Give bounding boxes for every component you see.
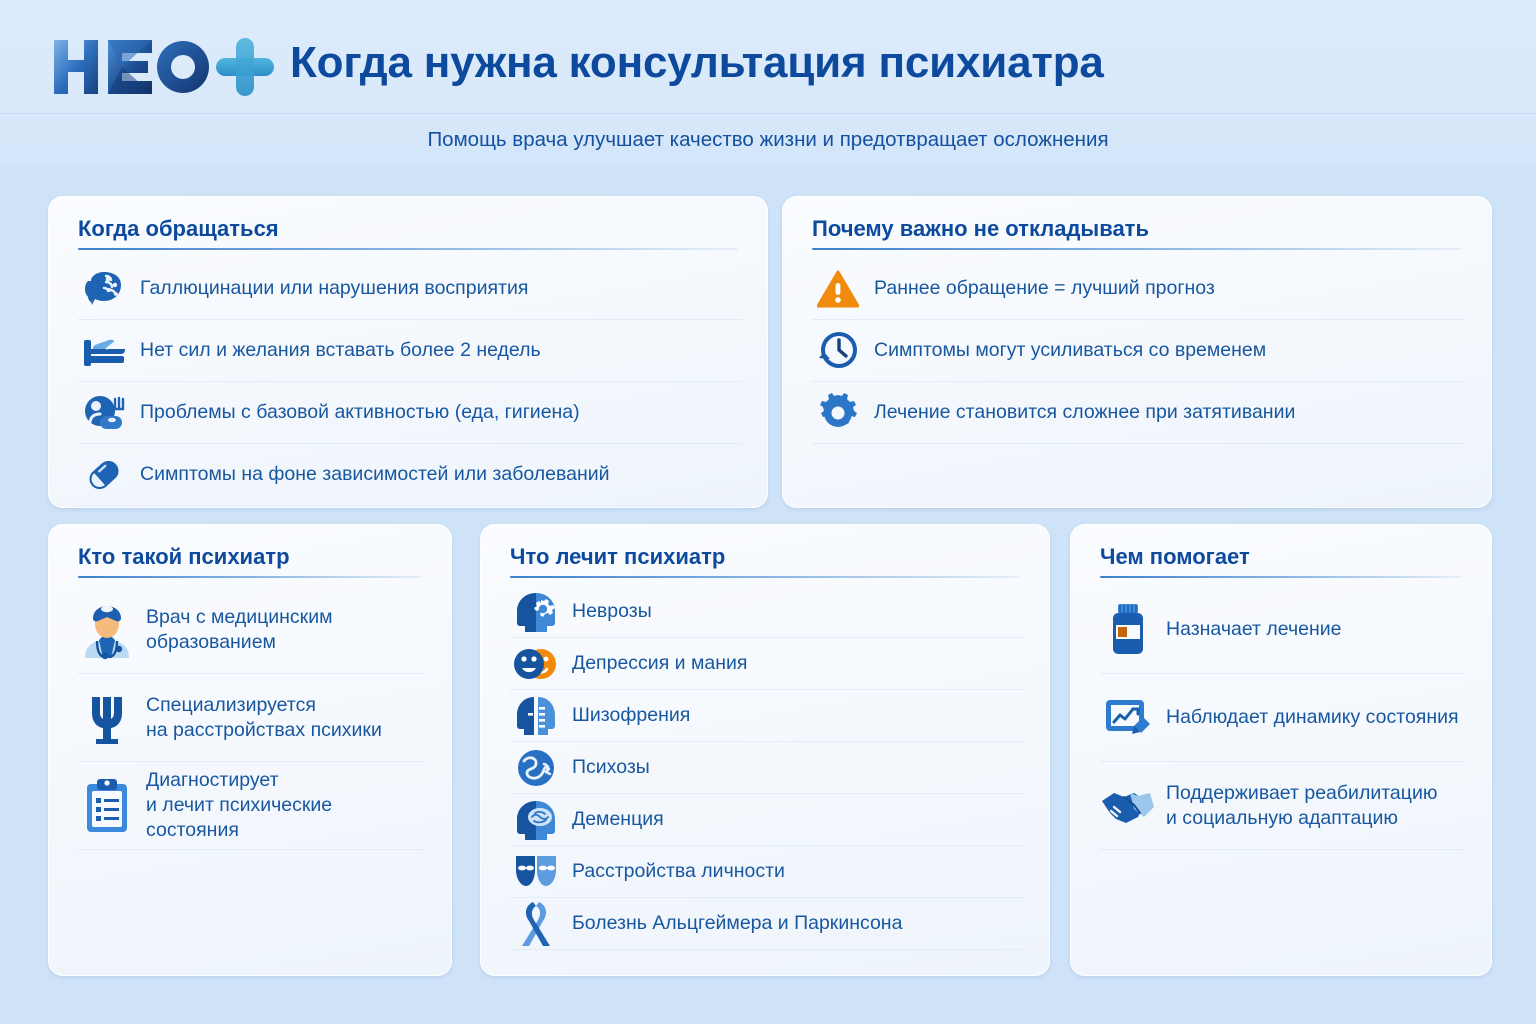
split-head-icon	[510, 692, 562, 740]
list-item-label: Шизофрения	[572, 703, 690, 728]
card-title-rule	[812, 248, 1462, 250]
list-item[interactable]: Раннее обращение = лучший прогноз	[812, 258, 1466, 320]
list-item[interactable]: Симптомы могут усиливаться со временем	[812, 320, 1466, 382]
card-why-not-delay: Почему важно не откладывать Раннее обращ…	[782, 196, 1492, 508]
list-item-label: Наблюдает динамику состояния	[1166, 705, 1459, 730]
card-title-rule	[510, 576, 1020, 578]
list-treats: Неврозы Депрессия и мания	[510, 586, 1024, 950]
list-item-label: Расстройства личности	[572, 859, 785, 884]
list-item[interactable]: Назначает лечение	[1100, 586, 1466, 674]
warning-triangle-icon	[812, 266, 864, 312]
list-item-label: Назначает лечение	[1166, 617, 1341, 642]
list-item[interactable]: Нет сил и желания вставать более 2 недел…	[78, 320, 742, 382]
card-title: Почему важно не откладывать	[812, 216, 1149, 242]
theater-masks-icon	[510, 848, 562, 896]
two-faces-icon	[510, 640, 562, 688]
list-item[interactable]: Проблемы с базовой активностью (еда, гиг…	[78, 382, 742, 444]
list-item[interactable]: Наблюдает динамику состояния	[1100, 674, 1466, 762]
ribbon-icon	[510, 900, 562, 948]
doctor-icon	[78, 594, 136, 666]
eating-icon	[78, 390, 130, 436]
brain-icon	[78, 266, 130, 312]
list-item-label: Нет сил и желания вставать более 2 недел…	[140, 338, 541, 363]
pill-bottle-icon	[1100, 594, 1156, 666]
list-item-label: Лечение становится сложнее при затятиван…	[874, 400, 1295, 425]
list-item-label: Поддерживает реабилитацию и социальную а…	[1166, 781, 1437, 831]
card-title: Чем помогает	[1100, 544, 1250, 570]
list-item[interactable]: Болезнь Альцгеймера и Паркинсона	[510, 898, 1024, 950]
card-title-rule	[78, 576, 422, 578]
list-item[interactable]: Врач с медицинским образованием	[78, 586, 426, 674]
list-who: Врач с медицинским образованием Специали…	[78, 586, 426, 850]
list-item[interactable]: Деменция	[510, 794, 1024, 846]
list-item[interactable]: Поддерживает реабилитацию и социальную а…	[1100, 762, 1466, 850]
list-item-label: Галлюцинации или нарушения восприятия	[140, 276, 528, 301]
card-who-is-psychiatrist: Кто такой психиатр Врач с медицинским об…	[48, 524, 452, 976]
list-item[interactable]: Диагностирует и лечит психические состоя…	[78, 762, 426, 850]
gear-icon	[812, 390, 864, 436]
list-item[interactable]: Лечение становится сложнее при затятиван…	[812, 382, 1466, 444]
list-item-label: Неврозы	[572, 599, 652, 624]
list-when: Галлюцинации или нарушения восприятия Не…	[78, 258, 742, 506]
list-item-label: Диагностирует и лечит психические состоя…	[146, 768, 426, 843]
card-title: Кто такой психиатр	[78, 544, 290, 570]
card-title-rule	[1100, 576, 1462, 578]
handshake-icon	[1100, 770, 1156, 842]
clipboard-icon	[78, 770, 136, 842]
list-item[interactable]: Депрессия и мания	[510, 638, 1024, 690]
psi-icon	[78, 682, 136, 754]
bed-icon	[78, 328, 130, 374]
chart-pen-icon	[1100, 682, 1156, 754]
list-item[interactable]: Галлюцинации или нарушения восприятия	[78, 258, 742, 320]
card-title: Когда обращаться	[78, 216, 279, 242]
list-item[interactable]: Расстройства личности	[510, 846, 1024, 898]
list-item-label: Деменция	[572, 807, 664, 832]
list-why: Раннее обращение = лучший прогноз Симпто…	[812, 258, 1466, 444]
list-item-label: Врач с медицинским образованием	[146, 605, 333, 655]
page-subtitle: Помощь врача улучшает качество жизни и п…	[0, 128, 1536, 152]
header: Когда нужна консультация психиатра Помощ…	[0, 0, 1536, 166]
card-what-psychiatrist-treats: Что лечит психиатр Неврозы	[480, 524, 1050, 976]
tangled-head-icon	[510, 744, 562, 792]
capsule-icon	[78, 452, 130, 498]
card-how-helps: Чем помогает Назначает лечение	[1070, 524, 1492, 976]
list-item[interactable]: Шизофрения	[510, 690, 1024, 742]
list-item-label: Болезнь Альцгеймера и Паркинсона	[572, 911, 902, 936]
list-item[interactable]: Неврозы	[510, 586, 1024, 638]
list-item-label: Проблемы с базовой активностью (еда, гиг…	[140, 400, 580, 425]
list-item-label: Симптомы могут усиливаться со временем	[874, 338, 1266, 363]
list-item-label: Симптомы на фоне зависимостей или заболе…	[140, 462, 610, 487]
list-helps: Назначает лечение Наблюдает динамику сос…	[1100, 586, 1466, 850]
card-title-rule	[78, 248, 738, 250]
page-title: Когда нужна консультация психиатра	[290, 38, 1104, 88]
list-item[interactable]: Специализируется на расстройствах психик…	[78, 674, 426, 762]
list-item-label: Психозы	[572, 755, 650, 780]
clock-icon	[812, 328, 864, 374]
card-when-to-seek-help: Когда обращаться Галлюцинации или наруше…	[48, 196, 768, 508]
list-item[interactable]: Симптомы на фоне зависимостей или заболе…	[78, 444, 742, 506]
list-item-label: Раннее обращение = лучший прогноз	[874, 276, 1215, 301]
list-item-label: Специализируется на расстройствах психик…	[146, 693, 382, 743]
head-brain-icon	[510, 796, 562, 844]
list-item-label: Депрессия и мания	[572, 651, 747, 676]
card-title: Что лечит психиатр	[510, 544, 725, 570]
head-gear-icon	[510, 588, 562, 636]
neo-plus-logo	[52, 36, 277, 98]
list-item[interactable]: Психозы	[510, 742, 1024, 794]
